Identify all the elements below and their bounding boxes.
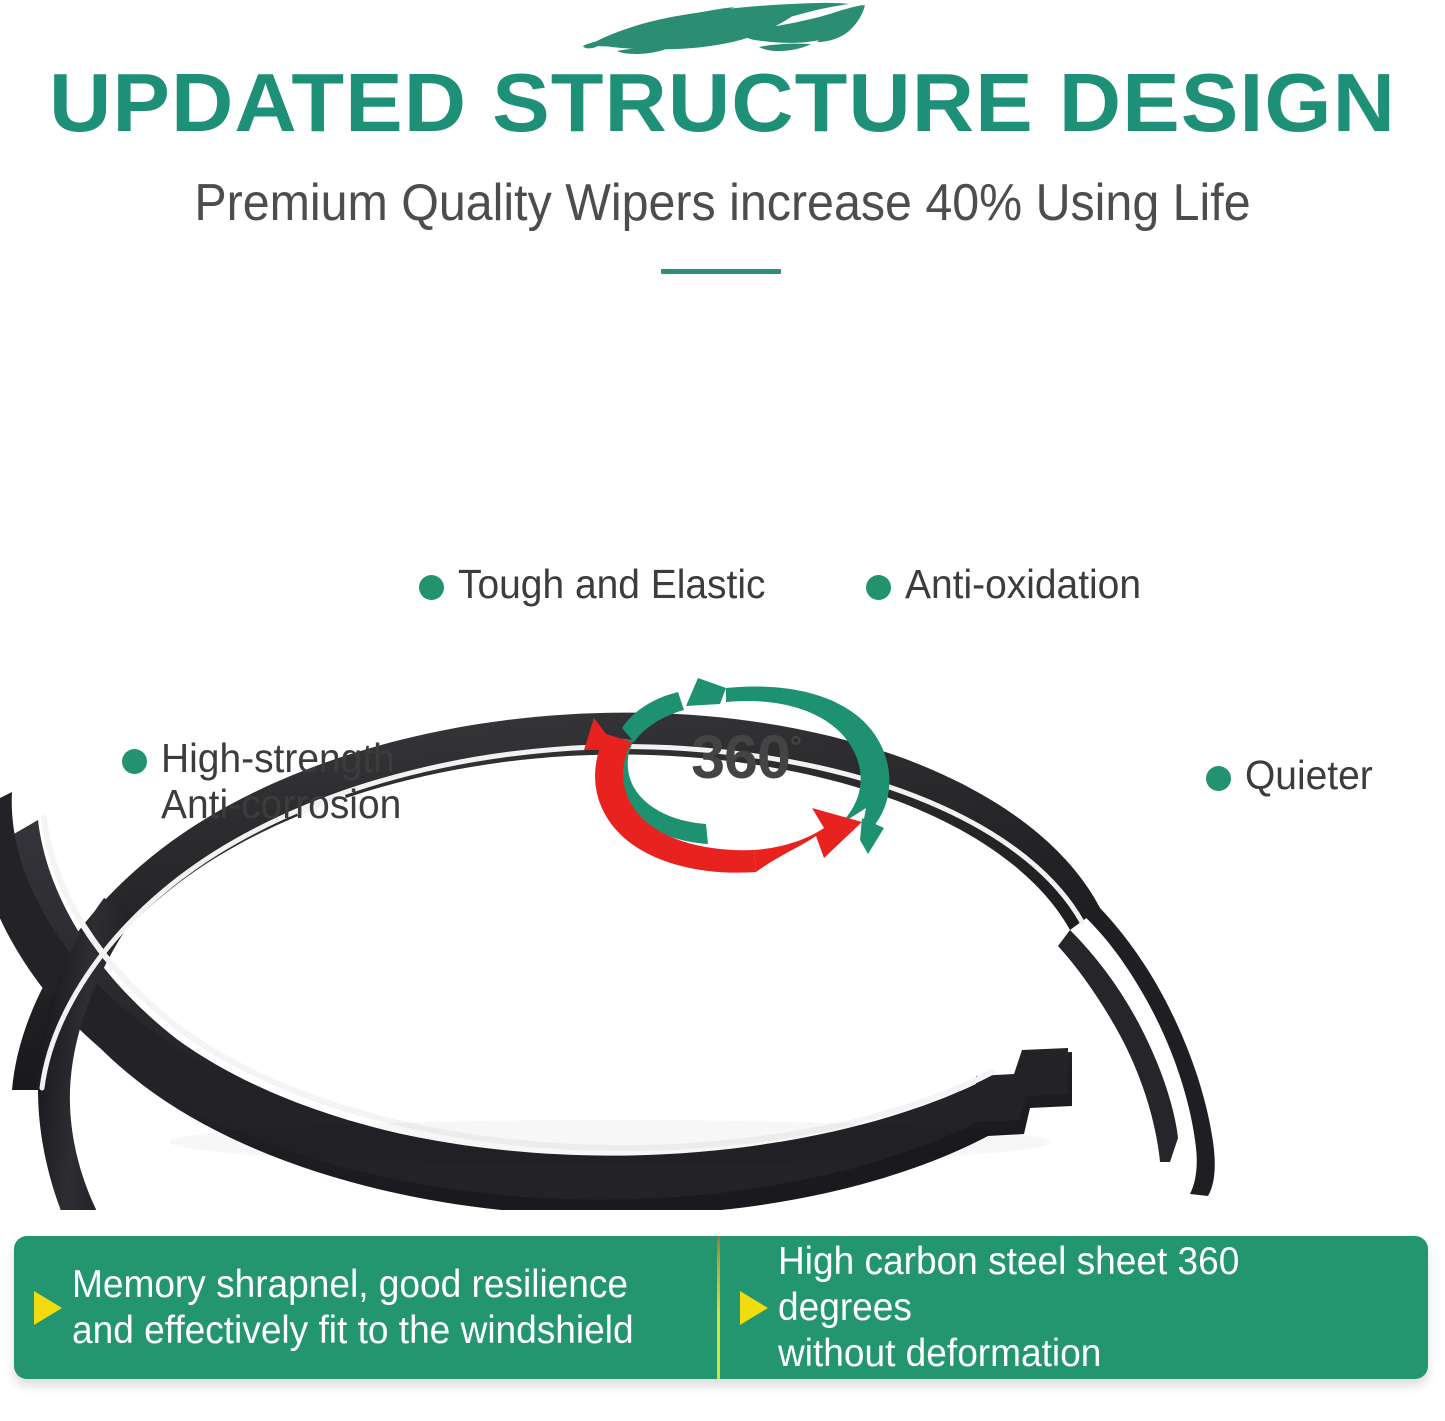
callout-anti-oxidation: Anti-oxidation	[866, 561, 1153, 607]
callout-label-line1: High-strength	[161, 735, 395, 781]
callout-label: Anti-oxidation	[905, 561, 1141, 607]
callout-label-line2: Anti-corrosion	[161, 781, 401, 827]
banner-text-line2: and effectively fit to the windshield	[72, 1308, 634, 1354]
car-silhouette-icon	[573, 2, 873, 60]
callout-label: Tough and Elastic	[458, 561, 765, 607]
callout-label: Quieter	[1245, 752, 1373, 798]
page-title: UPDATED STRUCTURE DESIGN	[0, 60, 1445, 146]
banner-text: High carbon steel sheet 360 degrees with…	[778, 1239, 1379, 1377]
bullet-dot-icon	[122, 749, 147, 774]
bullet-dot-icon	[866, 575, 891, 600]
triangle-arrow-icon	[34, 1291, 62, 1325]
banner-text-line2: without deformation	[778, 1331, 1379, 1377]
callout-tough-and-elastic: Tough and Elastic	[419, 561, 782, 607]
banner-text-line1: Memory shrapnel, good resilience	[72, 1263, 628, 1306]
page-subtitle: Premium Quality Wipers increase 40% Usin…	[51, 172, 1395, 234]
bullet-dot-icon	[1206, 766, 1231, 791]
strip-right-tail-a	[1058, 930, 1178, 1162]
badge-360-rotation: 360°	[566, 658, 926, 873]
strip-notch-top-b	[300, 886, 346, 910]
triangle-arrow-icon	[740, 1291, 768, 1325]
callout-label: High-strength Anti-corrosion	[161, 735, 401, 827]
product-shadow	[170, 1120, 1050, 1164]
banner-text: Memory shrapnel, good resilience and eff…	[72, 1262, 634, 1354]
degree-symbol-icon: °	[790, 731, 801, 764]
bullet-dot-icon	[419, 575, 444, 600]
callout-high-strength-anti-corrosion: High-strength Anti-corrosion	[122, 735, 414, 827]
feature-banner-row: Memory shrapnel, good resilience and eff…	[14, 1236, 1428, 1379]
banner-high-carbon-steel: High carbon steel sheet 360 degrees with…	[720, 1236, 1429, 1379]
banner-memory-shrapnel: Memory shrapnel, good resilience and eff…	[14, 1236, 717, 1379]
title-divider	[661, 269, 781, 274]
callout-quieter: Quieter	[1206, 752, 1379, 798]
badge-360-value: 360	[691, 723, 790, 791]
banner-text-line1: High carbon steel sheet 360 degrees	[778, 1240, 1239, 1329]
badge-360-label: 360°	[566, 724, 926, 790]
